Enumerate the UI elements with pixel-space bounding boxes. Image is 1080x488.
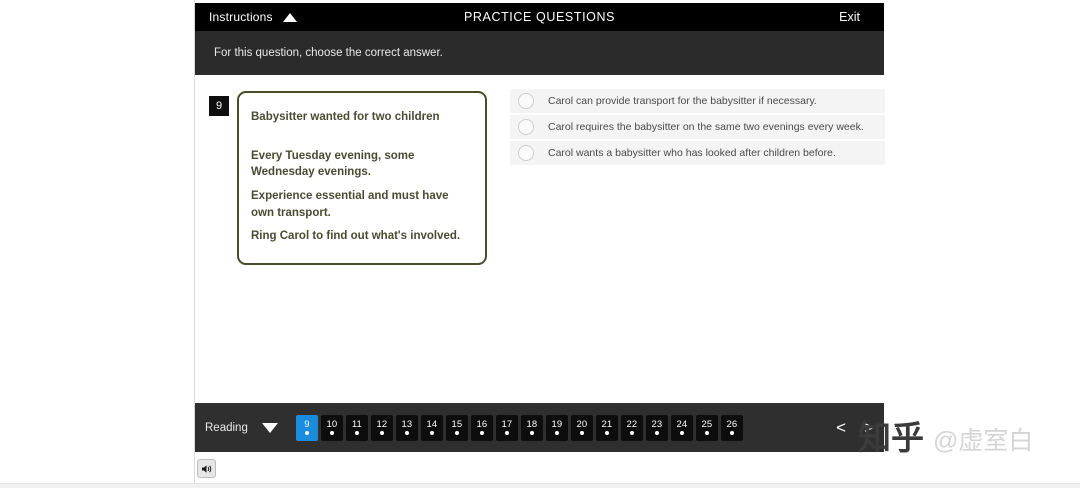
instruction-text: For this question, choose the correct an… — [195, 47, 443, 59]
answered-dot-icon — [530, 431, 534, 435]
question-button-23[interactable]: 23 — [646, 415, 668, 441]
volume-speaker-icon — [201, 463, 213, 475]
question-button-number: 25 — [702, 420, 713, 430]
answered-dot-icon — [705, 431, 709, 435]
question-navigation-bar: Reading 91011121314151617181920212223242… — [195, 403, 884, 452]
question-button-16[interactable]: 16 — [471, 415, 493, 441]
question-button-13[interactable]: 13 — [396, 415, 418, 441]
answered-dot-icon — [505, 431, 509, 435]
answered-dot-icon — [480, 431, 484, 435]
answered-dot-icon — [455, 431, 459, 435]
answered-dot-icon — [330, 431, 334, 435]
next-question-button[interactable]: > — [864, 419, 874, 436]
question-button-number: 15 — [452, 420, 463, 430]
question-button-number: 14 — [427, 420, 438, 430]
answered-dot-icon — [730, 431, 734, 435]
question-button-24[interactable]: 24 — [671, 415, 693, 441]
volume-speaker-button[interactable] — [197, 459, 216, 478]
question-button-number: 21 — [602, 420, 613, 430]
nav-arrow-group: < > — [836, 419, 874, 436]
question-button-number: 18 — [527, 420, 538, 430]
answer-option-label: Carol can provide transport for the baby… — [534, 95, 817, 107]
answered-dot-icon — [630, 431, 634, 435]
answered-dot-icon — [655, 431, 659, 435]
exit-button[interactable]: Exit — [839, 10, 860, 24]
question-button-number: 12 — [377, 420, 388, 430]
answered-dot-icon — [405, 431, 409, 435]
section-selector[interactable]: Reading — [195, 422, 278, 434]
question-button-10[interactable]: 10 — [321, 415, 343, 441]
radio-button-icon[interactable] — [518, 119, 534, 135]
answered-dot-icon — [555, 431, 559, 435]
stimulus-card: Babysitter wanted for two children Every… — [237, 91, 487, 265]
answer-option-label: Carol requires the babysitter on the sam… — [534, 121, 864, 133]
question-button-17[interactable]: 17 — [496, 415, 518, 441]
stimulus-heading: Babysitter wanted for two children — [251, 109, 471, 126]
question-number-badge: 9 — [209, 96, 229, 116]
question-button-21[interactable]: 21 — [596, 415, 618, 441]
question-button-number: 11 — [352, 420, 362, 430]
answered-dot-icon — [680, 431, 684, 435]
page-title: PRACTICE QUESTIONS — [195, 10, 884, 24]
radio-button-icon[interactable] — [518, 145, 534, 161]
exam-top-bar: Instructions PRACTICE QUESTIONS Exit — [195, 3, 884, 31]
previous-question-button[interactable]: < — [836, 419, 846, 436]
answered-dot-icon — [355, 431, 359, 435]
section-label: Reading — [205, 422, 248, 434]
answered-dot-icon — [580, 431, 584, 435]
question-button-number: 16 — [477, 420, 488, 430]
question-button-14[interactable]: 14 — [421, 415, 443, 441]
question-button-number: 24 — [677, 420, 688, 430]
answer-option-a[interactable]: Carol can provide transport for the baby… — [510, 89, 885, 113]
answer-options-list: Carol can provide transport for the baby… — [510, 89, 885, 167]
question-button-26[interactable]: 26 — [721, 415, 743, 441]
exam-screen: Instructions PRACTICE QUESTIONS Exit For… — [0, 0, 1080, 488]
answered-dot-icon — [380, 431, 384, 435]
question-number-list: 91011121314151617181920212223242526 — [296, 415, 743, 441]
bottom-strip — [0, 483, 1080, 488]
question-button-number: 23 — [652, 420, 663, 430]
question-button-number: 9 — [304, 420, 309, 430]
answered-dot-icon — [430, 431, 434, 435]
answered-dot-icon — [305, 431, 309, 435]
question-work-area: 9 Babysitter wanted for two children Eve… — [195, 75, 884, 403]
question-button-number: 13 — [402, 420, 413, 430]
answer-option-b[interactable]: Carol requires the babysitter on the sam… — [510, 115, 885, 139]
question-button-number: 19 — [552, 420, 563, 430]
question-button-number: 20 — [577, 420, 588, 430]
stimulus-line-2: Experience essential and must have own t… — [251, 188, 471, 221]
watermark: 知乎 @虚室白 — [858, 421, 1033, 454]
answered-dot-icon — [605, 431, 609, 435]
answer-option-c[interactable]: Carol wants a babysitter who has looked … — [510, 141, 885, 165]
radio-button-icon[interactable] — [518, 93, 534, 109]
question-button-11[interactable]: 11 — [346, 415, 368, 441]
question-button-19[interactable]: 19 — [546, 415, 568, 441]
triangle-down-icon[interactable] — [262, 423, 278, 433]
question-button-number: 10 — [327, 420, 338, 430]
question-button-number: 26 — [727, 420, 738, 430]
instruction-bar: For this question, choose the correct an… — [195, 31, 884, 75]
stimulus-spacer — [251, 126, 471, 148]
stimulus-line-1: Every Tuesday evening, some Wednesday ev… — [251, 148, 471, 181]
question-button-9[interactable]: 9 — [296, 415, 318, 441]
stimulus-line-3: Ring Carol to find out what's involved. — [251, 228, 471, 245]
question-button-number: 17 — [502, 420, 513, 430]
answer-option-label: Carol wants a babysitter who has looked … — [534, 147, 836, 159]
question-button-18[interactable]: 18 — [521, 415, 543, 441]
question-button-25[interactable]: 25 — [696, 415, 718, 441]
question-button-number: 22 — [627, 420, 638, 430]
question-button-20[interactable]: 20 — [571, 415, 593, 441]
question-button-12[interactable]: 12 — [371, 415, 393, 441]
watermark-handle: @虚室白 — [933, 429, 1033, 454]
question-button-15[interactable]: 15 — [446, 415, 468, 441]
question-button-22[interactable]: 22 — [621, 415, 643, 441]
